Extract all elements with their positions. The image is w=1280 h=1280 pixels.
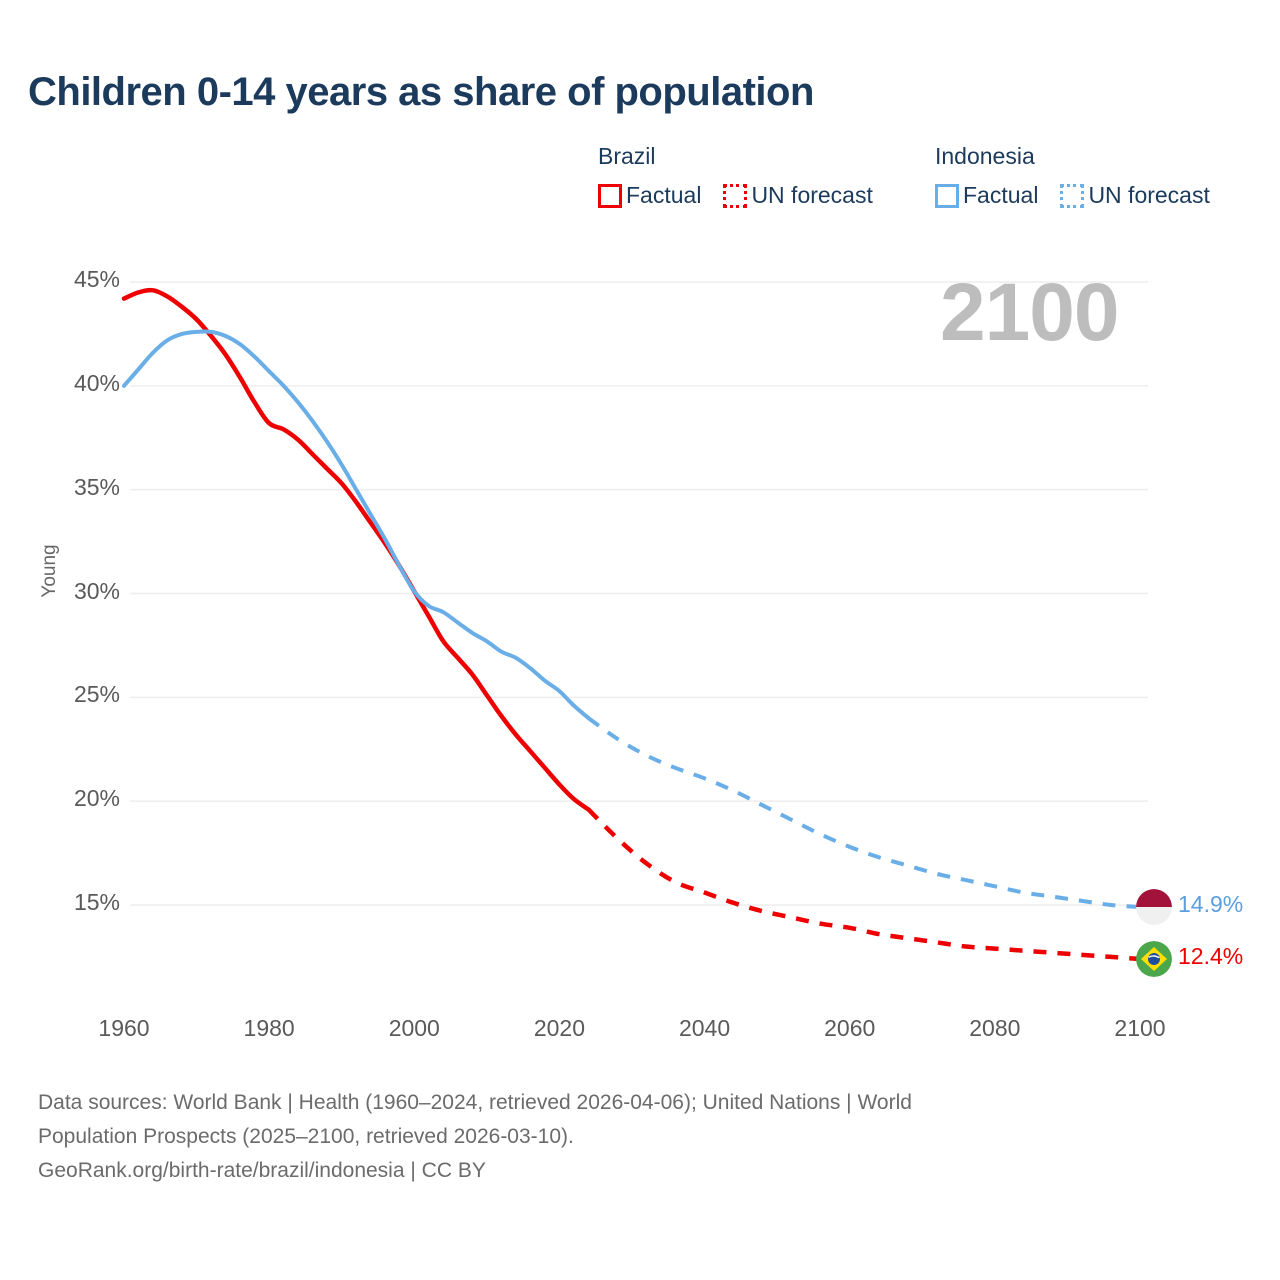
y-tick-label: 30%: [0, 578, 120, 605]
x-tick-label: 2080: [935, 1015, 1055, 1042]
x-tick-label: 2020: [499, 1015, 619, 1042]
x-tick-label: 2060: [790, 1015, 910, 1042]
footer-line-1: Data sources: World Bank | Health (1960–…: [38, 1086, 1178, 1120]
y-tick-label: 20%: [0, 785, 120, 812]
y-tick-label: 40%: [0, 370, 120, 397]
y-tick-label: 35%: [0, 474, 120, 501]
year-watermark: 2100: [940, 272, 1118, 354]
x-tick-label: 2000: [354, 1015, 474, 1042]
line-factual-brazil: [124, 290, 588, 809]
x-tick-label: 2100: [1080, 1015, 1200, 1042]
chart-page: Children 0-14 years as share of populati…: [0, 0, 1280, 1280]
gridlines: [130, 282, 1148, 905]
y-tick-label: 45%: [0, 266, 120, 293]
series-lines: [124, 290, 1140, 959]
x-tick-label: 2040: [645, 1015, 765, 1042]
flag-indonesia-icon: [1136, 889, 1172, 925]
line-forecast-brazil: [588, 809, 1140, 959]
x-tick-label: 1980: [209, 1015, 329, 1042]
footer-line-3: GeoRank.org/birth-rate/brazil/indonesia …: [38, 1154, 1178, 1188]
x-tick-label: 1960: [64, 1015, 184, 1042]
end-label-brazil: 12.4%: [1178, 943, 1243, 970]
footer-line-2: Population Prospects (2025–2100, retriev…: [38, 1120, 1178, 1154]
y-axis-title: Young: [39, 511, 61, 631]
flag-brazil-icon: [1136, 941, 1172, 977]
y-tick-label: 25%: [0, 681, 120, 708]
y-tick-label: 15%: [0, 889, 120, 916]
end-label-indonesia: 14.9%: [1178, 891, 1243, 918]
footer-sources: Data sources: World Bank | Health (1960–…: [38, 1086, 1178, 1188]
line-factual-indonesia: [124, 331, 588, 718]
